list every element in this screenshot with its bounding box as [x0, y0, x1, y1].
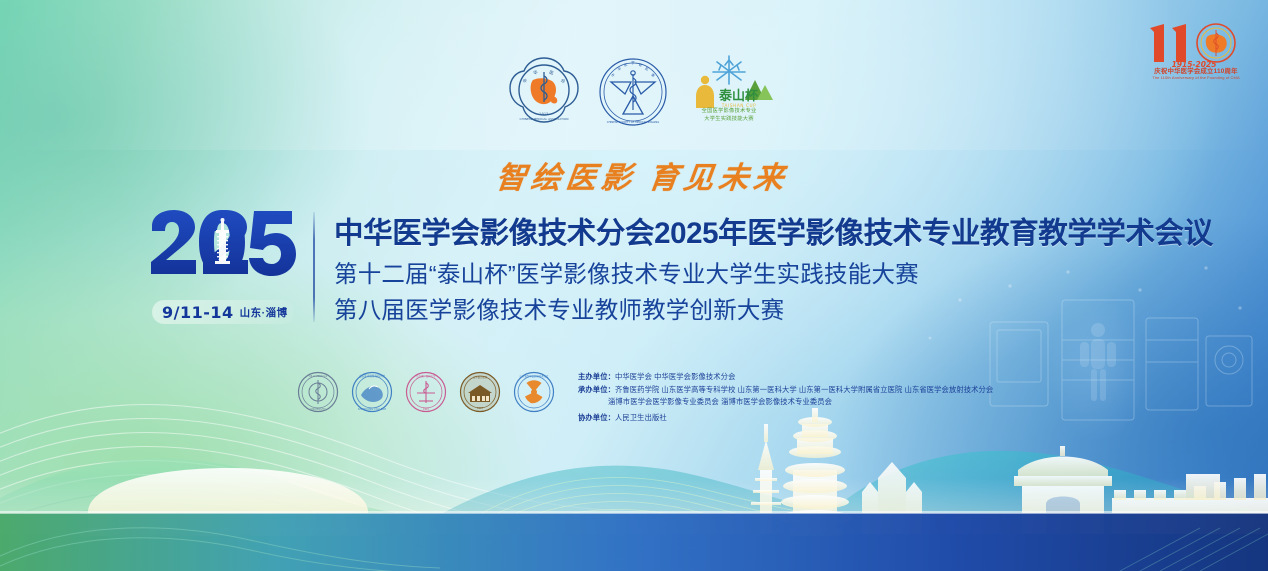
organizer-row: 主办单位：中华医学会 中华医学会影像技术分会: [578, 371, 1008, 384]
chinese-medical-association-logo: 中 华 医 会 1915 CHINESE MEDICAL ASSOCIATION: [505, 52, 583, 132]
organizer-value: 人民卫生出版社: [615, 413, 667, 422]
seal-provincial-hospital: 山东省立医院 1897: [459, 371, 501, 418]
conference-date: 9/11-14: [162, 303, 234, 322]
organizer-label: 主办单位：: [578, 372, 615, 381]
svg-text:医: 医: [548, 70, 555, 77]
svg-text:山东省医学会放射技术分会: 山东省医学会放射技术分会: [520, 374, 549, 378]
title-block: 中华医学会影像技术分会2025年医学影像技术专业教育教学学术会议 第十二届“泰山…: [334, 214, 1194, 327]
anniversary-caption-en: The 110th Anniversary of the Founding of…: [1142, 75, 1250, 80]
seal-shandong-first-medical-university: 山东第一医科大学 1915: [405, 371, 447, 418]
subtitle-competition-teacher: 第八届医学影像技术专业教师教学创新大赛: [334, 293, 1194, 327]
organizer-value: 中华医学会 中华医学会影像技术分会: [615, 372, 735, 381]
svg-text:QILU MEDICAL: QILU MEDICAL: [309, 374, 328, 378]
university-seal-row: QILU MEDICAL UNIVERSITY 山东医学高等专科学校 SHAND…: [297, 371, 555, 418]
110th-anniversary-logo: 1915-2025 庆祝中华医学会成立110周年 The 110th Anniv…: [1142, 22, 1250, 86]
svg-text:山东医学高等专科学校: 山东医学高等专科学校: [359, 374, 385, 378]
subtitle-competition-student: 第十二届“泰山杯”医学影像技术专业大学生实践技能大赛: [334, 257, 1194, 291]
organizer-value: 淄博市医学会医学影像专业委员会 淄博市医学会影像技术专业委员会: [608, 397, 832, 406]
organizer-row: 协办单位：人民卫生出版社: [578, 412, 1008, 425]
imaging-technology-branch-logo: 中 华 医 学 会 影 像 CHINESE SOCIETY OF MEDICAL…: [595, 52, 671, 132]
conference-city: 山东·淄博: [240, 305, 288, 320]
date-location-pill: 9/11-14 山东·淄博: [152, 300, 294, 324]
organizer-value: 齐鲁医药学院 山东医学高等专科学校 山东第一医科大学 山东第一医科大学附属省立医…: [615, 385, 993, 394]
svg-text:学: 学: [631, 60, 635, 65]
organizer-label: 协办单位：: [578, 413, 615, 422]
organizer-block: 主办单位：中华医学会 中华医学会影像技术分会 承办单位：齐鲁医药学院 山东医学高…: [578, 371, 1008, 424]
radiation-icon: [525, 380, 543, 403]
year-2025-logo: [146, 208, 298, 290]
year-block: 9/11-14 山东·淄博: [146, 208, 298, 328]
svg-text:SHANDONG COLLEGE: SHANDONG COLLEGE: [358, 407, 387, 411]
vertical-divider: [313, 212, 315, 322]
svg-text:影: 影: [644, 66, 650, 72]
taishan-cup-caption: 全国医学影像技术专业 大学生实践技能大赛: [683, 108, 775, 123]
anniversary-caption-cn: 庆祝中华医学会成立110周年: [1142, 66, 1250, 75]
svg-text:像: 像: [650, 72, 656, 78]
top-logo-row: 中 华 医 会 1915 CHINESE MEDICAL ASSOCIATION: [505, 52, 770, 144]
taishan-cup-logo: 泰山杯 TAISHAN CUP 全国医学影像技术专业 大学生实践技能大赛: [683, 52, 775, 136]
svg-text:UNIVERSITY: UNIVERSITY: [310, 407, 326, 411]
seal-shandong-medical-college: 山东医学高等专科学校 SHANDONG COLLEGE: [351, 371, 393, 418]
svg-text:1915: 1915: [539, 112, 549, 116]
conference-banner: 中 华 医 会 1915 CHINESE MEDICAL ASSOCIATION: [0, 0, 1268, 571]
svg-text:中: 中: [610, 72, 616, 78]
seal-qilu-medical-university: QILU MEDICAL UNIVERSITY: [297, 371, 339, 418]
svg-text:山东省立医院: 山东省立医院: [473, 375, 488, 379]
svg-text:CHINESE MEDICAL ASSOCIATION: CHINESE MEDICAL ASSOCIATION: [520, 117, 569, 121]
organizer-row: 淄博市医学会医学影像专业委员会 淄博市医学会影像技术专业委员会: [578, 396, 1008, 409]
svg-text:华: 华: [532, 68, 539, 76]
organizer-row: 承办单位：齐鲁医药学院 山东医学高等专科学校 山东第一医科大学 山东第一医科大学…: [578, 384, 1008, 397]
page-title: 中华医学会影像技术分会2025年医学影像技术专业教育教学学术会议: [334, 214, 1194, 254]
slogan-calligraphy: 智绘医影 育见未来: [493, 157, 798, 201]
seal-radiology-branch: 山东省医学会放射技术分会: [513, 371, 555, 418]
organizer-label: 承办单位：: [578, 385, 615, 394]
svg-text:1897: 1897: [477, 407, 484, 410]
svg-text:泰山杯: 泰山杯: [718, 88, 759, 104]
svg-text:CHINESE SOCIETY OF MEDICAL IMA: CHINESE SOCIETY OF MEDICAL IMAGING: [607, 120, 659, 124]
svg-text:山东第一医科大学: 山东第一医科大学: [416, 374, 436, 378]
svg-text:华: 华: [616, 65, 622, 71]
svg-text:1915: 1915: [423, 408, 430, 411]
